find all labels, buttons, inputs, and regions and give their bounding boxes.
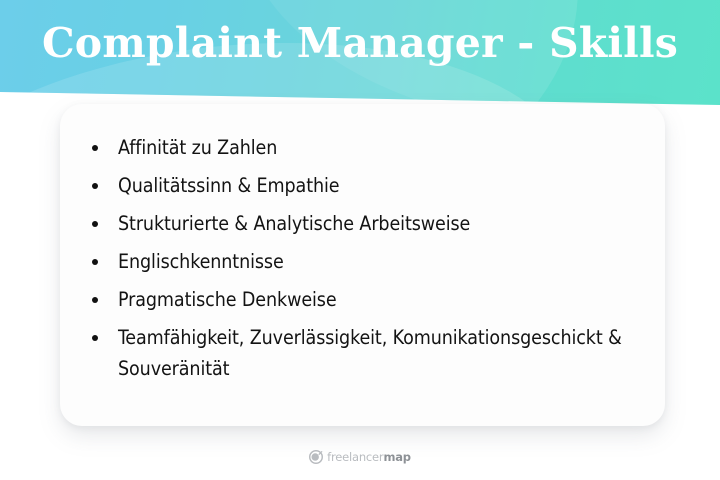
brand-wordmark-primary: freelancer bbox=[327, 450, 383, 464]
bullet-icon bbox=[92, 145, 98, 151]
slide-title: Complaint Manager - Skills bbox=[0, 17, 720, 69]
list-item: Qualitätssinn & Empathie bbox=[90, 170, 643, 201]
content-card: Affinität zu Zahlen Qualitätssinn & Empa… bbox=[60, 104, 665, 426]
freelancermap-circle-icon bbox=[309, 450, 323, 464]
brand-wordmark-accent: map bbox=[383, 450, 410, 464]
list-item-label: Qualitätssinn & Empathie bbox=[118, 174, 339, 197]
bullet-icon bbox=[92, 221, 98, 227]
list-item-label: Affinität zu Zahlen bbox=[118, 136, 277, 159]
bullet-icon bbox=[92, 335, 98, 341]
brand-wordmark: freelancermap bbox=[327, 450, 411, 464]
bullet-icon bbox=[92, 183, 98, 189]
list-item-label: Strukturierte & Analytische Arbeitsweise bbox=[118, 212, 470, 235]
list-item: Strukturierte & Analytische Arbeitsweise bbox=[90, 208, 643, 239]
list-item-label: Englischkenntnisse bbox=[118, 250, 284, 273]
list-item: Teamfähigkeit, Zuverlässigkeit, Komunika… bbox=[90, 322, 643, 384]
footer-brand-logo: freelancermap bbox=[0, 450, 720, 464]
list-item: Pragmatische Denkweise bbox=[90, 284, 643, 315]
list-item: Englischkenntnisse bbox=[90, 246, 643, 277]
list-item-label: Pragmatische Denkweise bbox=[118, 288, 337, 311]
skills-list: Affinität zu Zahlen Qualitätssinn & Empa… bbox=[90, 132, 643, 384]
list-item: Affinität zu Zahlen bbox=[90, 132, 643, 163]
slide-canvas: Complaint Manager - Skills Affinität zu … bbox=[0, 0, 720, 480]
bullet-icon bbox=[92, 259, 98, 265]
bullet-icon bbox=[92, 297, 98, 303]
list-item-label: Teamfähigkeit, Zuverlässigkeit, Komunika… bbox=[118, 326, 622, 380]
